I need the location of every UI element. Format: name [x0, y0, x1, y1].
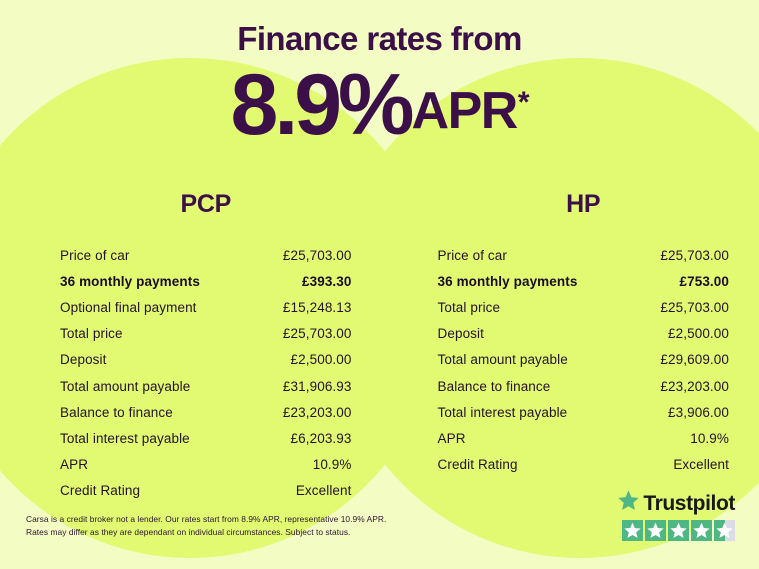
- table-row: Credit Rating Excellent: [60, 478, 352, 504]
- trustpilot-star-icon: [617, 489, 640, 517]
- row-value: Excellent: [296, 483, 352, 498]
- rating-star-1-icon: [622, 520, 643, 541]
- headline-rate-number: 8.9%: [230, 57, 410, 153]
- row-label: Total amount payable: [438, 352, 568, 367]
- finance-rows-hp: Price of car £25,703.00 36 monthly payme…: [438, 242, 730, 478]
- finance-rates-graphic: Finance rates from 8.9%APR* PCP Price of…: [0, 0, 759, 569]
- table-row: Price of car £25,703.00: [438, 242, 730, 268]
- row-value: 10.9%: [313, 457, 352, 472]
- row-label: Price of car: [60, 248, 129, 263]
- content-layer: Finance rates from 8.9%APR* PCP Price of…: [0, 0, 759, 569]
- table-row: Price of car £25,703.00: [60, 242, 352, 268]
- row-value: £23,203.00: [660, 379, 729, 394]
- row-label: Balance to finance: [60, 405, 173, 420]
- row-label: Optional final payment: [60, 300, 197, 315]
- headline-rate-asterisk: *: [518, 86, 530, 119]
- row-value: £25,703.00: [660, 300, 729, 315]
- table-row: APR 10.9%: [60, 452, 352, 478]
- headline-rate-suffix: APR: [412, 82, 517, 140]
- row-label: Balance to finance: [438, 379, 551, 394]
- table-row: Total amount payable £31,906.93: [60, 373, 352, 399]
- trustpilot-name: Trustpilot: [643, 493, 735, 514]
- row-value: £25,703.00: [283, 248, 352, 263]
- finance-column-pcp: PCP Price of car £25,703.00 36 monthly p…: [0, 190, 380, 504]
- row-label: Price of car: [438, 248, 507, 263]
- row-value: £25,703.00: [660, 248, 729, 263]
- row-label: Deposit: [438, 326, 484, 341]
- rating-star-3-icon: [668, 520, 689, 541]
- page-title: Finance rates from: [0, 20, 759, 58]
- rating-star-5-half-icon: [714, 520, 735, 541]
- row-value: £2,500.00: [668, 326, 729, 341]
- row-value: £393.30: [302, 274, 352, 289]
- row-label: Deposit: [60, 352, 106, 367]
- table-row: Total interest payable £3,906.00: [438, 399, 730, 425]
- finance-column-hp: HP Price of car £25,703.00 36 monthly pa…: [380, 190, 759, 504]
- row-value: £29,609.00: [660, 352, 729, 367]
- table-row: 36 monthly payments £393.30: [60, 268, 352, 294]
- disclaimer-line-2: Rates may differ as they are dependant o…: [26, 526, 456, 539]
- column-title-hp: HP: [438, 190, 730, 219]
- table-row: Balance to finance £23,203.00: [60, 399, 352, 425]
- row-label: Credit Rating: [60, 483, 140, 498]
- table-row: Total interest payable £6,203.93: [60, 425, 352, 451]
- headline-rate: 8.9%APR*: [0, 62, 759, 148]
- table-row: 36 monthly payments £753.00: [438, 268, 730, 294]
- trustpilot-rating-stars: [615, 520, 735, 541]
- disclaimer-line-1: Carsa is a credit broker not a lender. O…: [26, 513, 456, 526]
- row-value: £753.00: [680, 274, 730, 289]
- row-label: 36 monthly payments: [60, 274, 200, 289]
- rating-star-4-icon: [691, 520, 712, 541]
- row-label: Total price: [438, 300, 501, 315]
- trustpilot-wordmark: Trustpilot: [615, 490, 735, 516]
- row-label: Credit Rating: [438, 457, 518, 472]
- table-row: Total price £25,703.00: [60, 321, 352, 347]
- finance-rows-pcp: Price of car £25,703.00 36 monthly payme…: [60, 242, 352, 504]
- table-row: Credit Rating Excellent: [438, 452, 730, 478]
- row-value: 10.9%: [690, 431, 729, 446]
- table-row: Balance to finance £23,203.00: [438, 373, 730, 399]
- row-label: APR: [438, 431, 466, 446]
- trustpilot-badge[interactable]: Trustpilot: [615, 490, 735, 541]
- row-label: Total price: [60, 326, 123, 341]
- row-value: £6,203.93: [291, 431, 352, 446]
- row-value: £31,906.93: [283, 379, 352, 394]
- row-value: £2,500.00: [291, 352, 352, 367]
- row-label: 36 monthly payments: [438, 274, 578, 289]
- row-value: £15,248.13: [283, 300, 352, 315]
- row-value: Excellent: [673, 457, 729, 472]
- table-row: APR 10.9%: [438, 425, 730, 451]
- row-label: Total amount payable: [60, 379, 190, 394]
- table-row: Optional final payment £15,248.13: [60, 294, 352, 320]
- legal-disclaimer: Carsa is a credit broker not a lender. O…: [26, 513, 456, 539]
- row-label: APR: [60, 457, 88, 472]
- row-label: Total interest payable: [438, 405, 568, 420]
- finance-comparison-columns: PCP Price of car £25,703.00 36 monthly p…: [0, 190, 759, 504]
- row-value: £25,703.00: [283, 326, 352, 341]
- row-value: £23,203.00: [283, 405, 352, 420]
- rating-star-2-icon: [645, 520, 666, 541]
- table-row: Deposit £2,500.00: [438, 321, 730, 347]
- table-row: Total amount payable £29,609.00: [438, 347, 730, 373]
- table-row: Deposit £2,500.00: [60, 347, 352, 373]
- row-value: £3,906.00: [668, 405, 729, 420]
- table-row: Total price £25,703.00: [438, 294, 730, 320]
- row-label: Total interest payable: [60, 431, 190, 446]
- column-title-pcp: PCP: [60, 190, 352, 219]
